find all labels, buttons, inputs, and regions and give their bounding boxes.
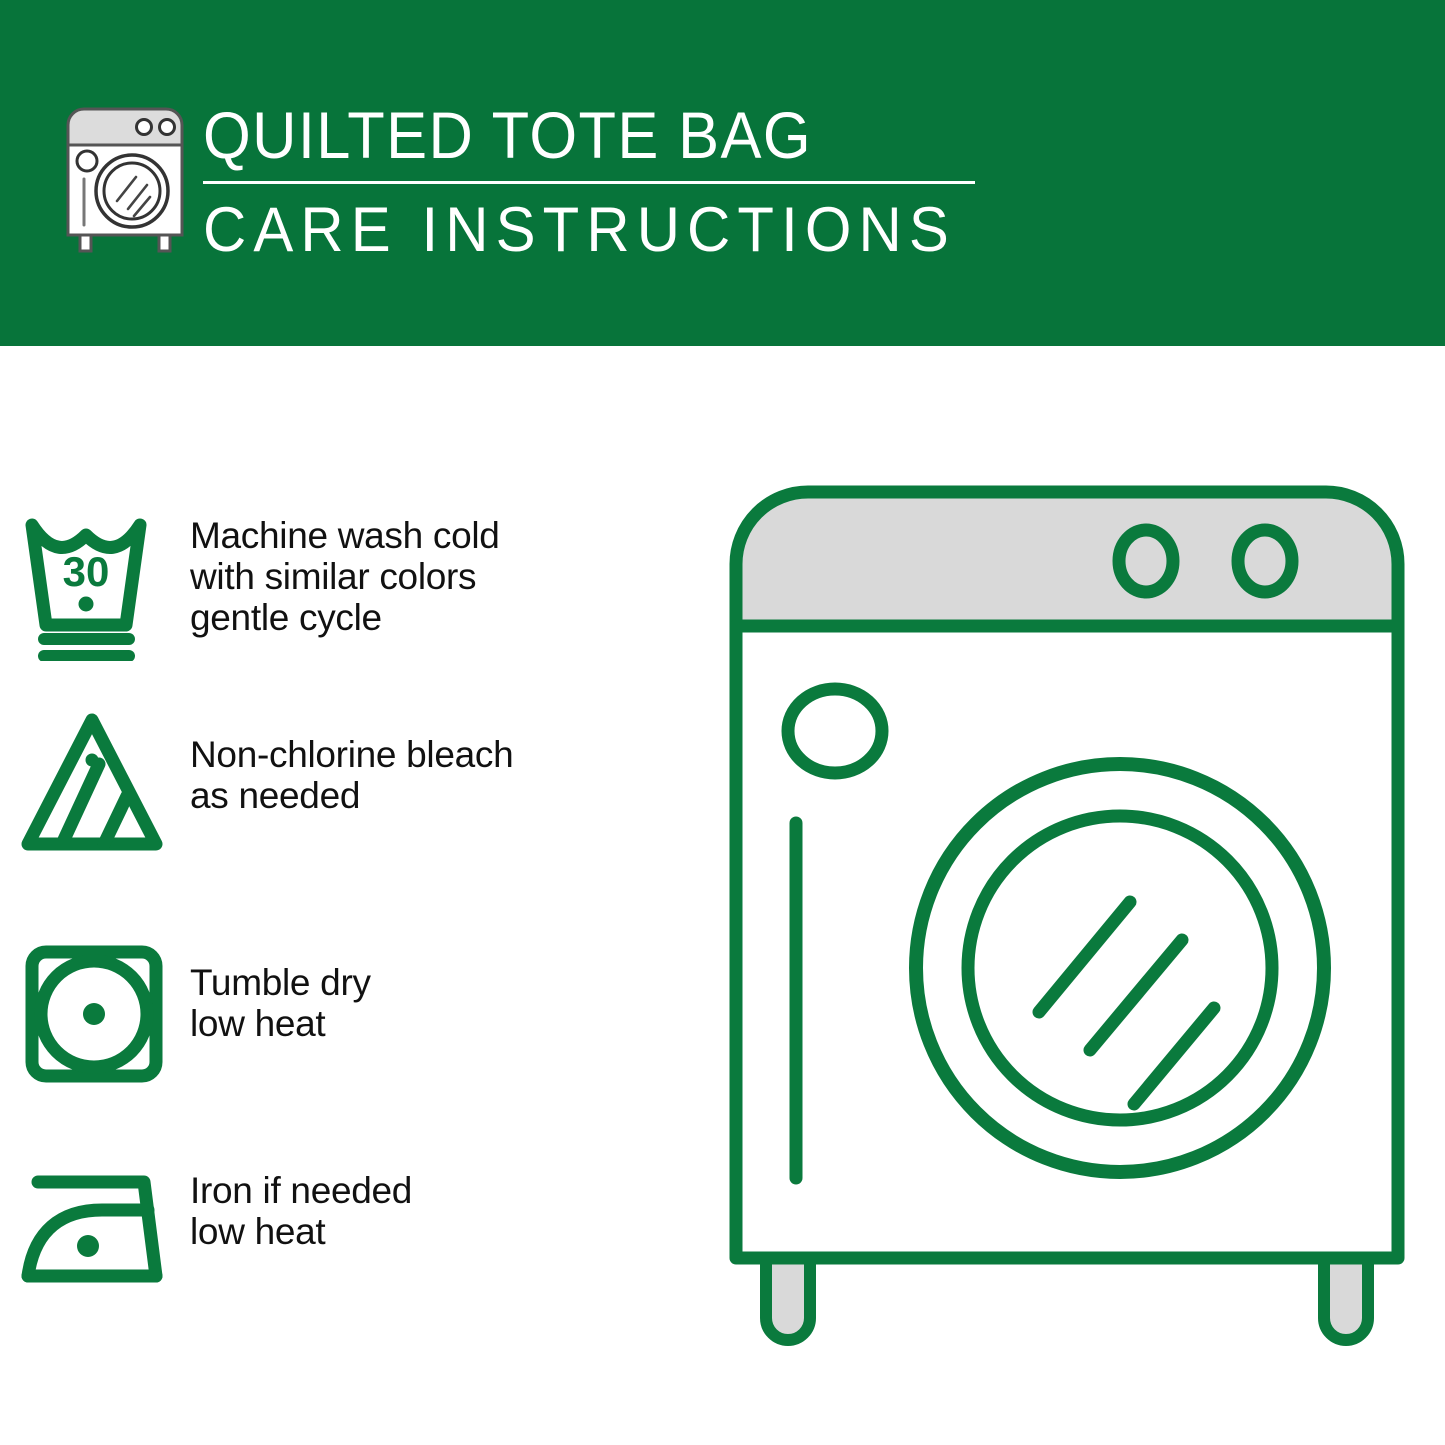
leg-right bbox=[1324, 1258, 1368, 1340]
care-row-iron: Iron if needed low heat bbox=[0, 1146, 700, 1306]
tumble-dry-icon bbox=[0, 934, 180, 1094]
care-label-line: low heat bbox=[190, 1211, 700, 1252]
iron-icon bbox=[0, 1146, 180, 1306]
washing-machine-icon bbox=[62, 103, 188, 255]
page-subtitle: CARE INSTRUCTIONS bbox=[203, 195, 963, 265]
wash-temperature-label: 30 bbox=[63, 548, 110, 595]
care-instructions-poster: QUILTED TOTE BAG CARE INSTRUCTIONS 30 bbox=[0, 0, 1445, 1445]
bleach-triangle-icon bbox=[0, 704, 180, 864]
wash-tub-30-icon: 30 bbox=[0, 501, 180, 661]
care-row-bleach: Non-chlorine bleach as needed bbox=[0, 704, 700, 864]
care-label-line: gentle cycle bbox=[190, 597, 700, 638]
care-label-bleach: Non-chlorine bleach as needed bbox=[180, 704, 700, 816]
title-divider bbox=[203, 181, 975, 184]
care-row-tumble-dry: Tumble dry low heat bbox=[0, 934, 700, 1094]
care-label-line: Tumble dry bbox=[190, 962, 700, 1003]
control-panel bbox=[736, 492, 1398, 626]
header-text-block: QUILTED TOTE BAG CARE INSTRUCTIONS bbox=[203, 98, 1003, 265]
care-label-line: low heat bbox=[190, 1003, 700, 1044]
care-instruction-list: 30 Machine wash cold with similar colors… bbox=[0, 346, 700, 1445]
header-banner: QUILTED TOTE BAG CARE INSTRUCTIONS bbox=[0, 0, 1445, 346]
care-label-line: Machine wash cold bbox=[190, 515, 700, 556]
page-title: QUILTED TOTE BAG bbox=[203, 98, 947, 172]
care-label-line: as needed bbox=[190, 775, 700, 816]
care-label-line: with similar colors bbox=[190, 556, 700, 597]
leg-left bbox=[766, 1258, 810, 1340]
care-label-line: Non-chlorine bleach bbox=[190, 734, 700, 775]
care-label-line: Iron if needed bbox=[190, 1170, 700, 1211]
care-label-iron: Iron if needed low heat bbox=[180, 1146, 700, 1252]
care-label-tumble-dry: Tumble dry low heat bbox=[180, 934, 700, 1044]
front-load-washing-machine-illustration bbox=[722, 478, 1412, 1368]
care-label-machine-wash: Machine wash cold with similar colors ge… bbox=[180, 501, 700, 638]
care-row-machine-wash: 30 Machine wash cold with similar colors… bbox=[0, 501, 700, 661]
